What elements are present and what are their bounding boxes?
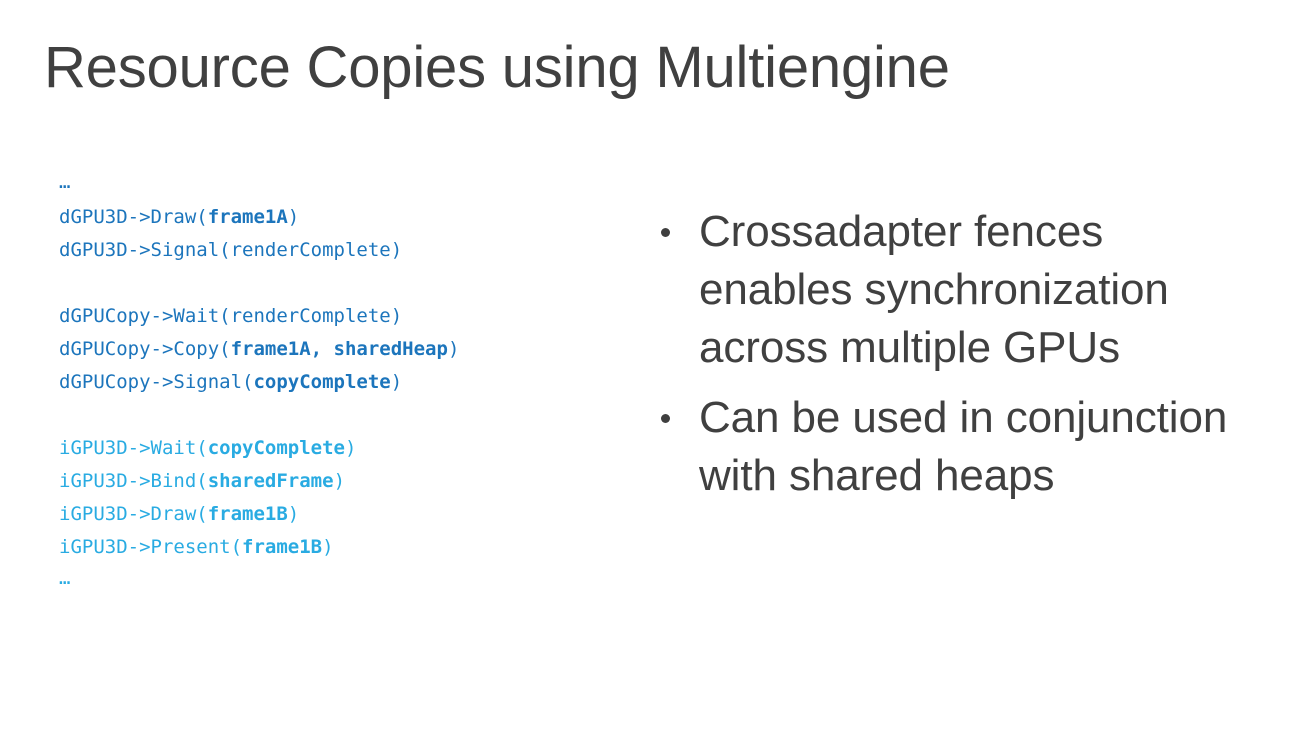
list-item: Crossadapter fences enables synchronizat… [655, 203, 1255, 377]
code-line: dGPUCopy->Copy(frame1A, sharedHeap) [59, 333, 619, 366]
code-token-emphasis: frame1A [208, 206, 288, 228]
code-token: iGPU3D->Wait( [59, 437, 208, 459]
code-token-emphasis: frame1B [208, 503, 288, 525]
code-token: dGPUCopy->Copy( [59, 338, 231, 360]
code-token: iGPU3D->Present( [59, 536, 242, 558]
bullet-list: Crossadapter fences enables synchronizat… [655, 203, 1255, 517]
list-item-label: Crossadapter fences enables synchronizat… [699, 203, 1255, 377]
code-token: ) [448, 338, 459, 360]
code-token-emphasis: frame1B [242, 536, 322, 558]
code-token: iGPU3D->Bind( [59, 470, 208, 492]
code-ellipsis: … [59, 168, 619, 201]
code-line: dGPU3D->Signal(renderComplete) [59, 234, 619, 267]
code-line: dGPUCopy->Signal(copyComplete) [59, 366, 619, 399]
code-token-emphasis: frame1A, sharedHeap [231, 338, 448, 360]
code-token-emphasis: sharedFrame [208, 470, 334, 492]
bullet-dot-icon [661, 414, 670, 423]
code-listing: …dGPU3D->Draw(frame1A)dGPU3D->Signal(ren… [59, 168, 619, 597]
code-token: ) [322, 536, 333, 558]
bullet-dot-icon [661, 228, 670, 237]
list-item: Can be used in conjunction with shared h… [655, 389, 1255, 505]
slide-canvas: Resource Copies using Multiengine …dGPU3… [0, 0, 1305, 734]
list-item-label: Can be used in conjunction with shared h… [699, 389, 1255, 505]
code-line: iGPU3D->Bind(sharedFrame) [59, 465, 619, 498]
code-token: dGPU3D->Signal(renderComplete) [59, 239, 402, 261]
code-line: dGPU3D->Draw(frame1A) [59, 201, 619, 234]
page-title: Resource Copies using Multiengine [44, 34, 1244, 102]
code-blank-line [59, 267, 619, 300]
code-token: ) [334, 470, 345, 492]
code-line: iGPU3D->Present(frame1B) [59, 531, 619, 564]
code-line: iGPU3D->Wait(copyComplete) [59, 432, 619, 465]
code-token: ) [345, 437, 356, 459]
code-line: dGPUCopy->Wait(renderComplete) [59, 300, 619, 333]
code-token: dGPUCopy->Wait(renderComplete) [59, 305, 402, 327]
code-token-emphasis: copyComplete [253, 371, 390, 393]
code-token: ) [288, 206, 299, 228]
code-token: dGPUCopy->Signal( [59, 371, 253, 393]
code-token: iGPU3D->Draw( [59, 503, 208, 525]
code-token: ) [391, 371, 402, 393]
code-token: ) [288, 503, 299, 525]
code-ellipsis: … [59, 564, 619, 597]
code-blank-line [59, 399, 619, 432]
code-line: iGPU3D->Draw(frame1B) [59, 498, 619, 531]
code-token-emphasis: copyComplete [208, 437, 345, 459]
code-token: dGPU3D->Draw( [59, 206, 208, 228]
